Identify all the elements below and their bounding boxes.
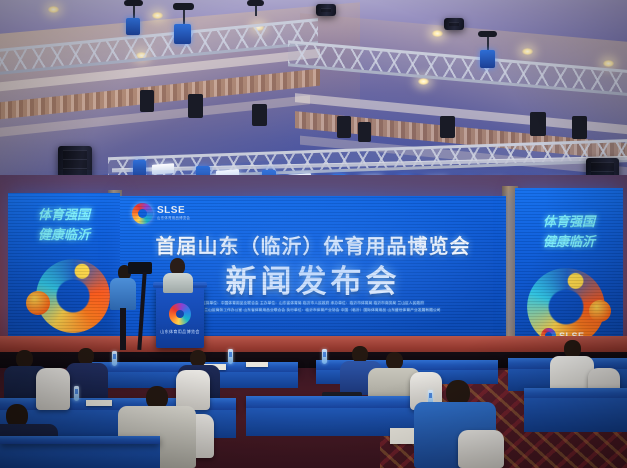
brand-subtitle: 山东体育用品博览会	[157, 217, 190, 220]
ceiling-downlight	[522, 48, 533, 55]
document-paper	[246, 362, 268, 367]
brand-name: SLSE	[157, 206, 190, 216]
podium-logo-subtitle: 山东体育用品博览会	[156, 329, 204, 335]
slse-swirl-icon	[132, 203, 153, 224]
banner-left-line1: 体育强国	[8, 207, 120, 225]
ceiling-downlight	[432, 30, 443, 37]
banner-left-line2: 健康临沂	[8, 227, 120, 245]
chair	[458, 430, 504, 468]
water-bottle	[112, 351, 117, 366]
swirl-logo-dot	[26, 291, 50, 315]
chair	[176, 370, 210, 410]
press-conference-photo: 体育强国 健康临沂 SLSE 山东体育用品博览会 首届山东（临沂）体育用品博览会…	[0, 0, 627, 468]
ceiling-speaker	[316, 4, 336, 16]
banner-right-line2: 健康临沂	[515, 234, 623, 252]
document-paper	[86, 400, 112, 406]
speaker-torso	[163, 273, 193, 293]
ceiling-downlight	[152, 12, 163, 19]
banner-right-line1: 体育强国	[515, 214, 623, 232]
ceiling-downlight	[418, 78, 429, 85]
chair	[36, 368, 70, 410]
stage-light-blue	[174, 24, 191, 44]
led-banner-right: 体育强国 健康临沂 SLSE	[515, 188, 623, 344]
ceiling-downlight	[48, 6, 59, 13]
cameraman-torso	[110, 278, 136, 310]
ceiling-lamp-mount	[247, 0, 264, 6]
audience-table	[0, 436, 160, 444]
water-bottle	[74, 386, 79, 401]
ceiling-speaker	[444, 18, 464, 30]
table-skirt	[0, 440, 160, 468]
water-bottle	[228, 349, 233, 364]
stage-light-par	[572, 116, 587, 139]
stage-light-par	[252, 104, 267, 126]
stage-light-par	[358, 122, 371, 142]
stage-light-par	[188, 94, 203, 118]
stage-light-par	[140, 90, 154, 112]
video-camera	[128, 262, 152, 274]
water-bottle	[322, 349, 327, 364]
ceiling-downlight	[603, 60, 614, 67]
ceiling-lamp-mount	[124, 0, 143, 6]
stage-light-par	[530, 112, 546, 136]
stage-light-white	[152, 163, 174, 175]
podium-slse-icon	[169, 303, 191, 325]
ceiling-lamp-mount	[173, 3, 194, 10]
stage-light-blue	[480, 50, 495, 68]
swirl-logo-dot	[589, 300, 611, 322]
screen-headline: 首届山东（临沂）体育用品博览会	[120, 230, 506, 259]
led-banner-left: 体育强国 健康临沂	[8, 193, 120, 341]
screen-brand-logo: SLSE 山东体育用品博览会	[132, 203, 190, 224]
table-skirt	[524, 398, 627, 432]
stage-light-par	[337, 116, 351, 138]
ceiling-lamp-mount	[478, 31, 497, 37]
stage-light-blue	[126, 18, 140, 35]
cameraman-legs	[120, 308, 126, 350]
podium: 山东体育用品博览会	[156, 286, 204, 348]
stage-light-par	[440, 116, 455, 138]
